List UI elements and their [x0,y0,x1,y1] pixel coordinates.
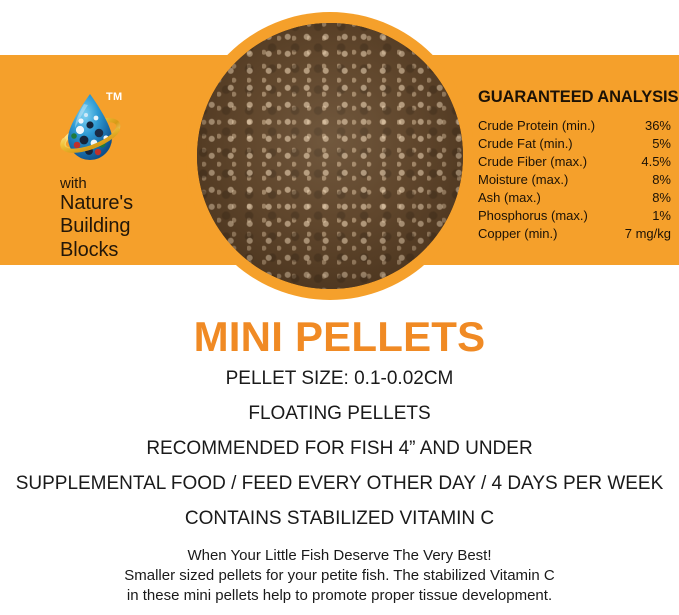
logo-brand-name: Nature's Building Blocks [60,192,210,262]
logo-brand-line-2: Building [60,215,210,238]
brand-logo-block: TM with Nature's Building Blocks [60,88,210,262]
logo-brand-line-1: Nature's [60,192,210,215]
tagline-line-2: Smaller sized pellets for your petite fi… [0,566,679,586]
product-title: MINI PELLETS [0,316,679,358]
table-row: Crude Protein (min.) 36% [478,117,671,135]
fish-food-pellets-photo [197,23,463,289]
spec-line: CONTAINS STABILIZED VITAMIN C [0,509,679,528]
guaranteed-analysis-title: GUARANTEED ANALYSIS [478,88,671,107]
nutrient-label: Ash (max.) [478,189,616,207]
nutrient-label: Crude Protein (min.) [478,117,616,135]
logo-with-label: with [60,176,210,192]
guaranteed-analysis-table: Crude Protein (min.) 36% Crude Fat (min.… [478,117,671,243]
spec-line: PELLET SIZE: 0.1-0.02CM [0,369,679,388]
spec-line: FLOATING PELLETS [0,404,679,423]
nutrient-value: 5% [616,135,671,153]
water-droplet-molecule-icon: TM [60,88,132,168]
photo-vignette [197,23,463,289]
nutrient-value: 7 mg/kg [616,225,671,243]
nutrient-label: Copper (min.) [478,225,616,243]
table-row: Crude Fiber (max.) 4.5% [478,153,671,171]
nutrient-value: 1% [616,207,671,225]
nutrient-value: 8% [616,171,671,189]
product-tagline: When Your Little Fish Deserve The Very B… [0,546,679,606]
tagline-line-3: in these mini pellets help to promote pr… [0,586,679,606]
nutrient-label: Moisture (max.) [478,171,616,189]
table-row: Copper (min.) 7 mg/kg [478,225,671,243]
nutrient-value: 36% [616,117,671,135]
product-spec-list: PELLET SIZE: 0.1-0.02CM FLOATING PELLETS… [0,369,679,544]
nutrient-label: Crude Fat (min.) [478,135,616,153]
spec-line: SUPPLEMENTAL FOOD / FEED EVERY OTHER DAY… [0,474,679,493]
table-row: Ash (max.) 8% [478,189,671,207]
guaranteed-analysis-panel: GUARANTEED ANALYSIS Crude Protein (min.)… [478,88,671,243]
trademark-symbol: TM [106,91,122,103]
table-row: Phosphorus (max.) 1% [478,207,671,225]
tagline-line-1: When Your Little Fish Deserve The Very B… [0,546,679,566]
nutrient-value: 4.5% [616,153,671,171]
nutrient-value: 8% [616,189,671,207]
nutrient-label: Crude Fiber (max.) [478,153,616,171]
table-row: Moisture (max.) 8% [478,171,671,189]
spec-line: RECOMMENDED FOR FISH 4” AND UNDER [0,439,679,458]
table-row: Crude Fat (min.) 5% [478,135,671,153]
nutrient-label: Phosphorus (max.) [478,207,616,225]
logo-brand-line-3: Blocks [60,239,210,262]
